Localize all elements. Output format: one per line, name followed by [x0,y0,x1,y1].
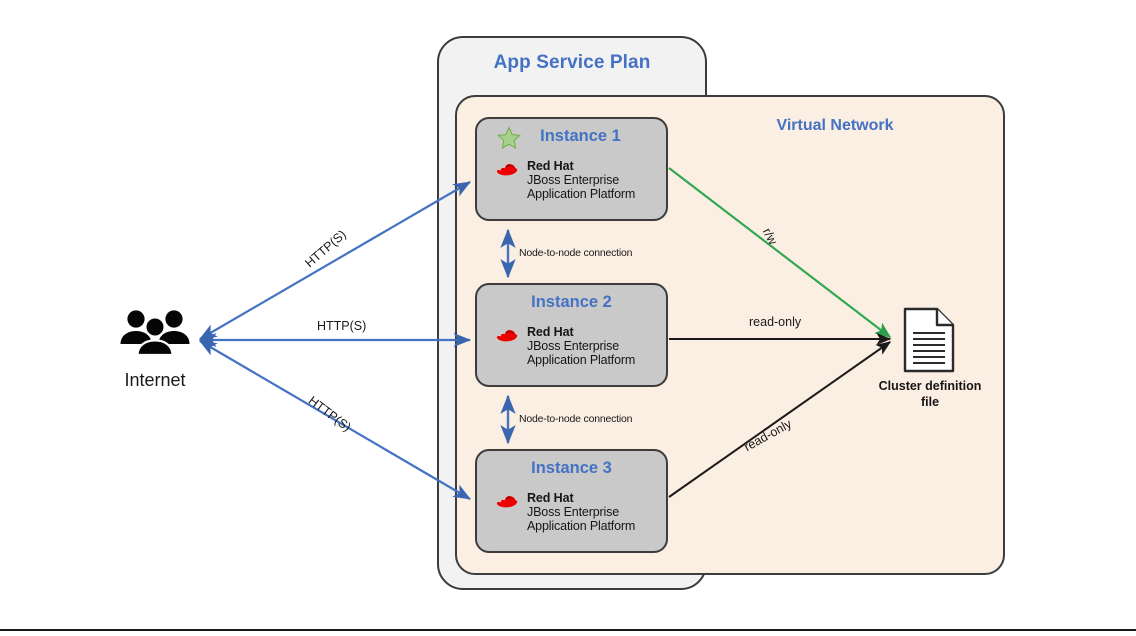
edge-label-read-only-1: read-only [749,315,801,329]
virtual-network-title: Virtual Network [700,117,970,135]
instance-3-box[interactable]: Instance 3 Red Hat JBoss Enterprise Appl… [475,449,668,553]
instance-2-brand: Red Hat [527,325,635,339]
instance-3-brand: Red Hat [527,491,635,505]
people-group-icon [118,308,192,356]
edge-http-top [200,182,470,339]
instance-2-product: Red Hat JBoss Enterprise Application Pla… [494,325,635,367]
edge-label-node-to-node-2: Node-to-node connection [519,413,632,425]
cluster-file-label-line-2: file [921,395,939,409]
instance-1-product: Red Hat JBoss Enterprise Application Pla… [494,159,635,201]
instance-1-title: Instance 1 [477,127,666,146]
edge-label-http-bottom: HTTP(S) [306,393,354,434]
cluster-definition-file-label: Cluster definition file [862,379,998,410]
instance-1-product-line-1: JBoss Enterprise [527,173,635,187]
cluster-file-label-line-1: Cluster definition [879,379,982,393]
instance-1-product-line-2: Application Platform [527,187,635,201]
edge-label-http-middle: HTTP(S) [317,319,366,333]
instance-3-title: Instance 3 [477,459,666,478]
instance-2-product-line-1: JBoss Enterprise [527,339,635,353]
edge-label-http-top: HTTP(S) [302,227,348,270]
instance-3-product-line-1: JBoss Enterprise [527,505,635,519]
instance-1-brand: Red Hat [527,159,635,173]
instance-2-box[interactable]: Instance 2 Red Hat JBoss Enterprise Appl… [475,283,668,387]
instance-2-title: Instance 2 [477,293,666,312]
instance-1-box[interactable]: Instance 1 Red Hat JBoss Enterprise Appl… [475,117,668,221]
red-hat-logo-icon [494,160,522,182]
diagram-canvas: App Service Plan Virtual Network Instanc… [0,0,1136,636]
instance-3-product: Red Hat JBoss Enterprise Application Pla… [494,491,635,533]
red-hat-logo-icon [494,326,522,348]
internet-label: Internet [80,370,230,391]
edge-label-node-to-node-1: Node-to-node connection [519,247,632,259]
red-hat-logo-icon [494,492,522,514]
app-service-plan-title: App Service Plan [437,52,707,74]
instance-3-product-line-2: Application Platform [527,519,635,533]
bottom-divider [0,629,1136,631]
document-icon [903,307,955,373]
instance-2-product-line-2: Application Platform [527,353,635,367]
